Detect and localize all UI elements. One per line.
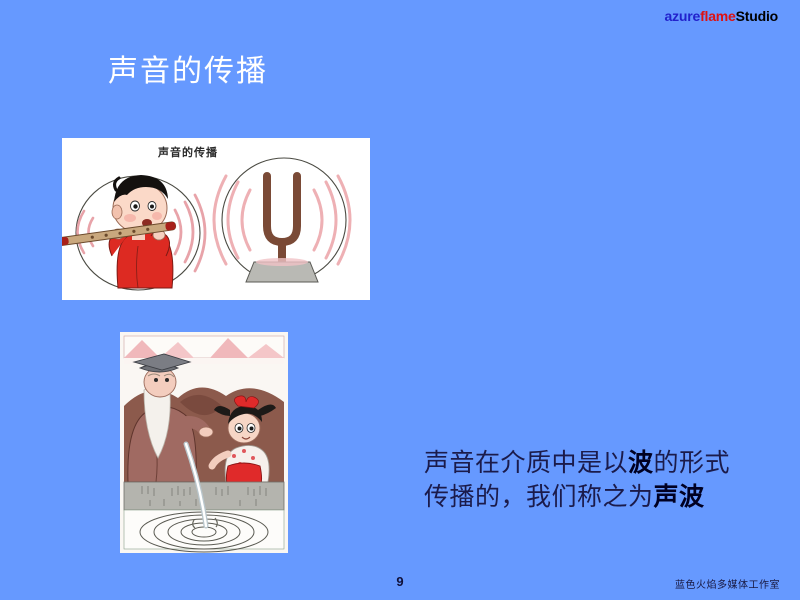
body-line-1: 声音在介质中是以波的形式 [424, 446, 780, 480]
sound-propagation-illustration: 声音的传播 [62, 138, 370, 300]
body-line-2: 传播的，我们称之为声波 [424, 480, 780, 514]
page-title: 声音的传播 [108, 46, 268, 90]
water-ripple-illustration [120, 332, 288, 553]
logo-text-studio: Studio [736, 8, 778, 24]
logo-text-azure: azure [664, 8, 700, 24]
footer-credit: 蓝色火焰多媒体工作室 [675, 576, 780, 591]
body-line1-bold: 波 [628, 448, 654, 477]
body-line1-pre: 声音在介质中是以 [424, 448, 628, 477]
body-line1-post: 的形式 [654, 448, 731, 477]
picture-caption: 声音的传播 [158, 144, 218, 160]
body-line2-pre: 传播的，我们称之为 [424, 482, 654, 511]
brand-logo: azureflameStudio [664, 8, 778, 24]
logo-text-flame: flame [700, 8, 736, 24]
water-ripple-graphic [120, 332, 288, 553]
body-line2-bold: 声波 [654, 482, 705, 511]
body-paragraph: 声音在介质中是以波的形式 传播的，我们称之为声波 [424, 446, 780, 514]
slide-canvas: azureflameStudio 声音的传播 [0, 0, 800, 600]
sound-propagation-graphic [62, 138, 370, 300]
